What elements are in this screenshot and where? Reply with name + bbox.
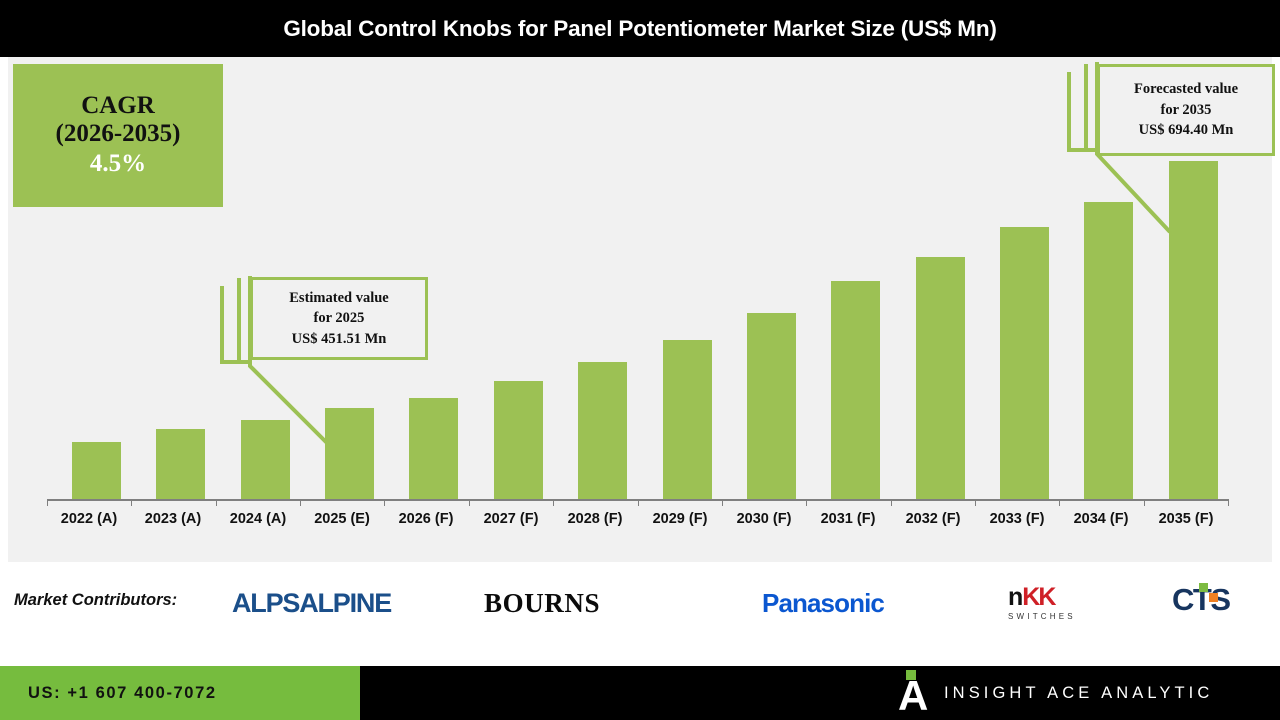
bar-2029 — [663, 340, 712, 499]
market-contributors-strip: Market Contributors: ALPSALPINE BOURNS P… — [0, 566, 1280, 642]
x-label-2032: 2032 (F) — [891, 511, 975, 527]
market-contributors-label: Market Contributors: — [14, 591, 177, 610]
cts-logo: CTS — [1172, 584, 1230, 617]
bar-2031 — [831, 281, 880, 499]
footer-phone-number[interactable]: US: +1 607 400-7072 — [28, 666, 217, 720]
axis-tick — [638, 499, 639, 506]
x-label-2028: 2028 (F) — [553, 511, 637, 527]
bar-2022 — [72, 442, 121, 499]
x-label-2022: 2022 (A) — [47, 511, 131, 527]
cts-green-square-icon — [1199, 583, 1208, 592]
axis-tick — [47, 499, 48, 506]
x-label-2024: 2024 (A) — [216, 511, 300, 527]
forecast-value-callout: Forecasted value for 2035 US$ 694.40 Mn — [1097, 64, 1275, 156]
page-title: Global Control Knobs for Panel Potentiom… — [0, 0, 1280, 57]
nkk-wordmark: n KK — [1008, 586, 1054, 610]
axis-tick — [553, 499, 554, 506]
brand-green-square-icon — [906, 670, 916, 680]
nkk-switches-logo: n KK SWITCHES — [1008, 586, 1076, 621]
x-label-2035: 2035 (F) — [1144, 511, 1228, 527]
axis-tick — [216, 499, 217, 506]
brand-letter-a: A — [898, 680, 928, 713]
bar-2030 — [747, 313, 796, 499]
forecast-callout-line2: for 2035 — [1161, 100, 1212, 121]
bar-2025 — [325, 408, 374, 499]
x-label-2033: 2033 (F) — [975, 511, 1059, 527]
x-axis-labels: 2022 (A) 2023 (A) 2024 (A) 2025 (E) 2026… — [47, 511, 1228, 537]
bar-plot-area — [47, 64, 1227, 499]
axis-tick — [722, 499, 723, 506]
panasonic-logo: Panasonic — [762, 588, 884, 619]
axis-tick — [1228, 499, 1229, 506]
axis-tick — [975, 499, 976, 506]
x-label-2026: 2026 (F) — [384, 511, 468, 527]
estimated-value-callout: Estimated value for 2025 US$ 451.51 Mn — [250, 277, 428, 360]
axis-tick — [806, 499, 807, 506]
axis-tick — [384, 499, 385, 506]
x-label-2030: 2030 (F) — [722, 511, 806, 527]
x-label-2034: 2034 (F) — [1059, 511, 1143, 527]
estimated-callout-line3: US$ 451.51 Mn — [292, 329, 387, 350]
axis-tick — [300, 499, 301, 506]
nkk-letters-kk: KK — [1022, 586, 1054, 610]
bar-2023 — [156, 429, 205, 499]
axis-tick — [131, 499, 132, 506]
bar-2034 — [1084, 202, 1133, 499]
infographic-root: Global Control Knobs for Panel Potentiom… — [0, 0, 1280, 720]
bar-2032 — [916, 257, 965, 499]
nkk-subtitle: SWITCHES — [1008, 612, 1076, 621]
cagr-title: CAGR — [81, 92, 155, 120]
cts-wordmark-wrap: CTS — [1172, 584, 1230, 617]
x-label-2031: 2031 (F) — [806, 511, 890, 527]
forecast-callout-line3: US$ 694.40 Mn — [1139, 120, 1234, 141]
x-label-2029: 2029 (F) — [638, 511, 722, 527]
bourns-logo: BOURNS — [484, 588, 600, 619]
estimated-callout-line2: for 2025 — [314, 308, 365, 329]
brand-lockup: A INSIGHT ACE ANALYTIC — [898, 666, 1213, 720]
x-label-2027: 2027 (F) — [469, 511, 553, 527]
axis-tick — [469, 499, 470, 506]
x-label-2025: 2025 (E) — [300, 511, 384, 527]
forecast-callout-line1: Forecasted value — [1134, 79, 1238, 100]
axis-tick — [1059, 499, 1060, 506]
cts-orange-square-icon — [1209, 593, 1218, 602]
cagr-period: (2026-2035) — [56, 120, 181, 148]
cagr-box: CAGR (2026-2035) 4.5% — [13, 64, 223, 207]
nkk-letter-n: n — [1008, 586, 1022, 610]
bar-2024 — [241, 420, 290, 499]
x-label-2023: 2023 (A) — [131, 511, 215, 527]
insight-ace-logo-icon: A — [898, 673, 926, 713]
title-bar: Global Control Knobs for Panel Potentiom… — [0, 0, 1280, 57]
alpsalpine-logo: ALPSALPINE — [232, 588, 391, 619]
bar-2028 — [578, 362, 627, 499]
bar-2035 — [1169, 161, 1218, 499]
estimated-callout-line1: Estimated value — [289, 288, 388, 309]
axis-tick — [1144, 499, 1145, 506]
bar-2026 — [409, 398, 458, 499]
bar-2033 — [1000, 227, 1049, 499]
brand-name: INSIGHT ACE ANALYTIC — [944, 684, 1213, 703]
bar-2027 — [494, 381, 543, 499]
footer-bar: US: +1 607 400-7072 A INSIGHT ACE ANALYT… — [0, 666, 1280, 720]
axis-tick — [891, 499, 892, 506]
cagr-value: 4.5% — [90, 148, 146, 179]
